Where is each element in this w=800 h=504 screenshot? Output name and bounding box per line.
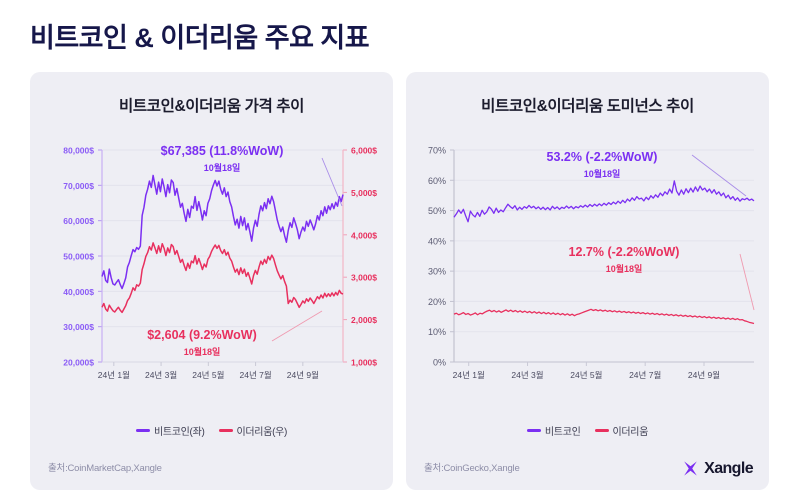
price-chart-card: 비트코인&이더리움 가격 추이 20,000$30,000$40,000$50,… <box>30 72 393 490</box>
svg-text:4,000$: 4,000$ <box>351 230 377 240</box>
svg-text:10월18일: 10월18일 <box>606 263 643 274</box>
svg-text:70,000$: 70,000$ <box>63 181 94 191</box>
svg-text:1,000$: 1,000$ <box>351 358 377 368</box>
svg-text:10%: 10% <box>428 327 446 337</box>
svg-text:5,000$: 5,000$ <box>351 188 377 198</box>
svg-text:24년 7월: 24년 7월 <box>239 370 271 380</box>
svg-text:24년 9월: 24년 9월 <box>688 370 720 380</box>
svg-text:24년 5월: 24년 5월 <box>192 370 224 380</box>
svg-text:6,000$: 6,000$ <box>351 146 377 156</box>
legend-label-ethereum: 이더리움(우) <box>237 423 288 438</box>
svg-text:50%: 50% <box>428 206 446 216</box>
page-title: 비트코인 & 이더리움 주요 지표 <box>30 16 369 55</box>
legend-swatch-bitcoin <box>136 429 150 432</box>
price-chart-plot: 20,000$30,000$40,000$50,000$60,000$70,00… <box>30 134 393 424</box>
svg-text:70%: 70% <box>428 146 446 156</box>
svg-text:24년 7월: 24년 7월 <box>629 370 661 380</box>
legend-item-ethereum-dominance[interactable]: 이더리움 <box>595 423 649 438</box>
svg-text:2,000$: 2,000$ <box>351 315 377 325</box>
dominance-chart-card: 비트코인&이더리움 도미넌스 추이 0%10%20%30%40%50%60%70… <box>406 72 769 490</box>
svg-text:3,000$: 3,000$ <box>351 273 377 283</box>
legend-item-bitcoin-dominance[interactable]: 비트코인 <box>527 423 581 438</box>
legend-item-ethereum[interactable]: 이더리움(우) <box>219 423 288 438</box>
svg-text:20,000$: 20,000$ <box>63 358 94 368</box>
legend-item-bitcoin[interactable]: 비트코인(좌) <box>136 423 205 438</box>
svg-text:20%: 20% <box>428 297 446 307</box>
svg-text:24년 1월: 24년 1월 <box>453 370 485 380</box>
svg-text:0%: 0% <box>433 358 446 368</box>
legend-label-bitcoin-dominance: 비트코인 <box>545 423 581 438</box>
svg-text:24년 3월: 24년 3월 <box>511 370 543 380</box>
xangle-logo-text: Xangle <box>704 460 753 478</box>
svg-text:30,000$: 30,000$ <box>63 322 94 332</box>
xangle-x-icon <box>681 459 700 478</box>
dominance-chart-legend: 비트코인 이더리움 <box>406 423 769 438</box>
dominance-chart-source: 출처:CoinGecko,Xangle <box>424 460 520 474</box>
svg-text:$67,385 (11.8%WoW): $67,385 (11.8%WoW) <box>161 144 284 158</box>
svg-text:10월18일: 10월18일 <box>584 168 621 179</box>
svg-text:50,000$: 50,000$ <box>63 252 94 262</box>
svg-text:53.2% (-2.2%WoW): 53.2% (-2.2%WoW) <box>547 150 658 164</box>
svg-text:24년 1월: 24년 1월 <box>98 370 130 380</box>
legend-swatch-bitcoin-dominance <box>527 429 541 432</box>
dominance-chart-title: 비트코인&이더리움 도미넌스 추이 <box>406 94 769 116</box>
dashboard-page: 비트코인 & 이더리움 주요 지표 비트코인&이더리움 가격 추이 20,000… <box>0 0 800 504</box>
svg-text:10월18일: 10월18일 <box>184 346 221 357</box>
svg-text:60%: 60% <box>428 176 446 186</box>
svg-text:24년 3월: 24년 3월 <box>145 370 177 380</box>
price-chart-svg: 20,000$30,000$40,000$50,000$60,000$70,00… <box>30 134 393 424</box>
legend-label-bitcoin: 비트코인(좌) <box>154 423 205 438</box>
price-chart-title: 비트코인&이더리움 가격 추이 <box>30 94 393 116</box>
svg-text:40,000$: 40,000$ <box>63 287 94 297</box>
legend-swatch-ethereum <box>219 429 233 432</box>
price-chart-source: 출처:CoinMarketCap,Xangle <box>48 460 162 474</box>
svg-text:12.7% (-2.2%WoW): 12.7% (-2.2%WoW) <box>569 245 680 259</box>
svg-text:40%: 40% <box>428 236 446 246</box>
svg-text:$2,604 (9.2%WoW): $2,604 (9.2%WoW) <box>147 328 257 342</box>
price-chart-legend: 비트코인(좌) 이더리움(우) <box>30 423 393 438</box>
legend-swatch-ethereum-dominance <box>595 429 609 432</box>
svg-text:60,000$: 60,000$ <box>63 216 94 226</box>
svg-text:24년 9월: 24년 9월 <box>287 370 319 380</box>
svg-text:80,000$: 80,000$ <box>63 146 94 156</box>
xangle-logo: Xangle <box>681 459 753 478</box>
dominance-chart-svg: 0%10%20%30%40%50%60%70%24년 1월24년 3월24년 5… <box>406 134 769 424</box>
svg-text:10월18일: 10월18일 <box>204 162 241 173</box>
svg-text:30%: 30% <box>428 267 446 277</box>
dominance-chart-plot: 0%10%20%30%40%50%60%70%24년 1월24년 3월24년 5… <box>406 134 769 424</box>
charts-container: 비트코인&이더리움 가격 추이 20,000$30,000$40,000$50,… <box>30 72 770 490</box>
legend-label-ethereum-dominance: 이더리움 <box>613 423 649 438</box>
svg-text:24년 5월: 24년 5월 <box>570 370 602 380</box>
